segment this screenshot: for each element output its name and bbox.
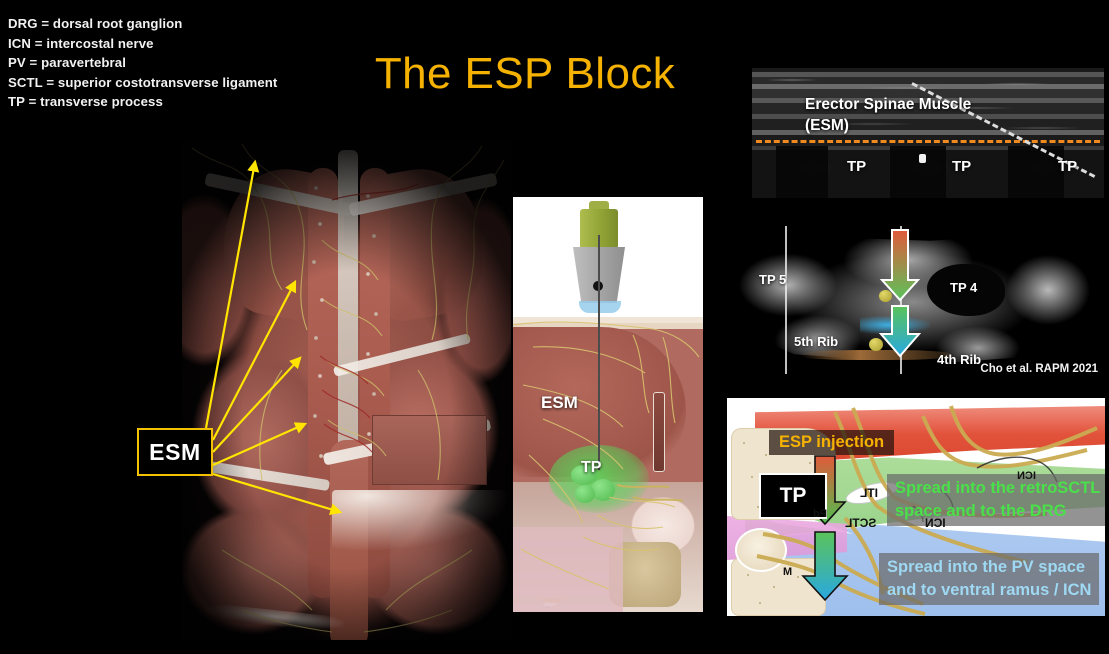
slide-title: The ESP Block [360, 48, 690, 100]
mirrored-label-m: M [783, 566, 792, 578]
panel-label-esm: ESM [541, 393, 578, 413]
ultrasound-title-line1: Erector Spinae Muscle [805, 96, 971, 114]
panel-label-tp: TP [581, 459, 601, 477]
bone-acoustic-shadow [1008, 146, 1064, 198]
pv-space-message-line2: and to ventral ramus / ICN [887, 581, 1091, 599]
cadaver-label-tp5: TP 5 [759, 272, 786, 287]
retrosctl-message: Spread into the retroSCTL space and to t… [887, 474, 1105, 526]
cadaver-label-rib4: 4th Rib [937, 352, 981, 367]
back-anatomy-illustration [182, 140, 512, 640]
pv-space-message-line1: Spread into the PV space [887, 558, 1085, 576]
legend-item: ICN = intercostal nerve [8, 34, 338, 54]
cadaver-label-tp4: TP 4 [950, 280, 977, 295]
ultrasound-tp-label: TP [952, 158, 971, 175]
esp-injection-label: ESP injection [779, 433, 884, 451]
tp-box-label: TP [780, 484, 807, 508]
bone-acoustic-shadow [890, 146, 946, 198]
blue-dye-spread [860, 316, 930, 334]
reference-line [900, 226, 902, 374]
nerve-nodule [869, 338, 883, 351]
cadaver-section-panel: TP 5 TP 4 5th Rib 4th Rib Cho et al. RAP… [722, 222, 1104, 377]
citation-text: Cho et al. RAPM 2021 [980, 363, 1098, 375]
esp-injection-banner: ESP injection [769, 430, 894, 455]
needle-tip-marker [919, 154, 926, 163]
coupling-gel [579, 301, 621, 313]
mirrored-label-icn: ICN [925, 516, 946, 530]
ultrasound-tp-label: TP [847, 158, 866, 175]
legend-item: PV = paravertebral [8, 53, 338, 73]
esm-callout-box: ESM [137, 428, 213, 476]
nerve-nodule [879, 290, 892, 302]
mirrored-label-sctl: SCTL [845, 516, 876, 530]
injectate-spread-diagram: TP ESP injection Spread into the retroSC… [727, 398, 1105, 616]
cadaver-label-rib5: 5th Rib [794, 334, 838, 349]
ultrasound-tp-label: TP [1058, 158, 1077, 175]
retrosctl-message-line1: Spread into the retroSCTL [895, 479, 1100, 497]
spinal-cord-section [735, 528, 787, 572]
ultrasound-image-panel: Erector Spinae Muscle (ESM) TP TP TP [752, 68, 1104, 198]
cadaver-specimen [728, 230, 1096, 365]
bone-acoustic-shadow [776, 146, 828, 198]
legend-item: DRG = dorsal root ganglion [8, 14, 338, 34]
transverse-process-nodule [575, 485, 595, 503]
mirrored-label-icn-upper: ICN [1017, 470, 1036, 482]
transverse-process-nodule [591, 479, 615, 501]
specimen-base [800, 350, 950, 360]
abbreviation-legend: DRG = dorsal root ganglion ICN = interco… [8, 14, 338, 112]
legend-item: SCTL = superior costotransverse ligament [8, 73, 338, 93]
mirrored-label-pd: Pd [813, 508, 827, 520]
pv-space-message: Spread into the PV space and to ventral … [879, 553, 1099, 605]
mirrored-label-itl: ITL [860, 486, 878, 500]
image-vignette [182, 140, 512, 640]
ultrasound-title-line2: (ESM) [805, 117, 849, 135]
legend-item: TP = transverse process [8, 92, 338, 112]
spinal-canal [653, 392, 665, 472]
reference-line [785, 226, 787, 374]
sagittal-probe-panel: ESM TP [513, 197, 703, 612]
lung-region [513, 527, 623, 612]
fascial-plane-dashed-line [756, 140, 1100, 143]
retrosctl-message-line2: space and to the DRG [895, 502, 1066, 520]
needle-trajectory [598, 235, 600, 470]
esm-callout-label: ESM [149, 439, 201, 466]
